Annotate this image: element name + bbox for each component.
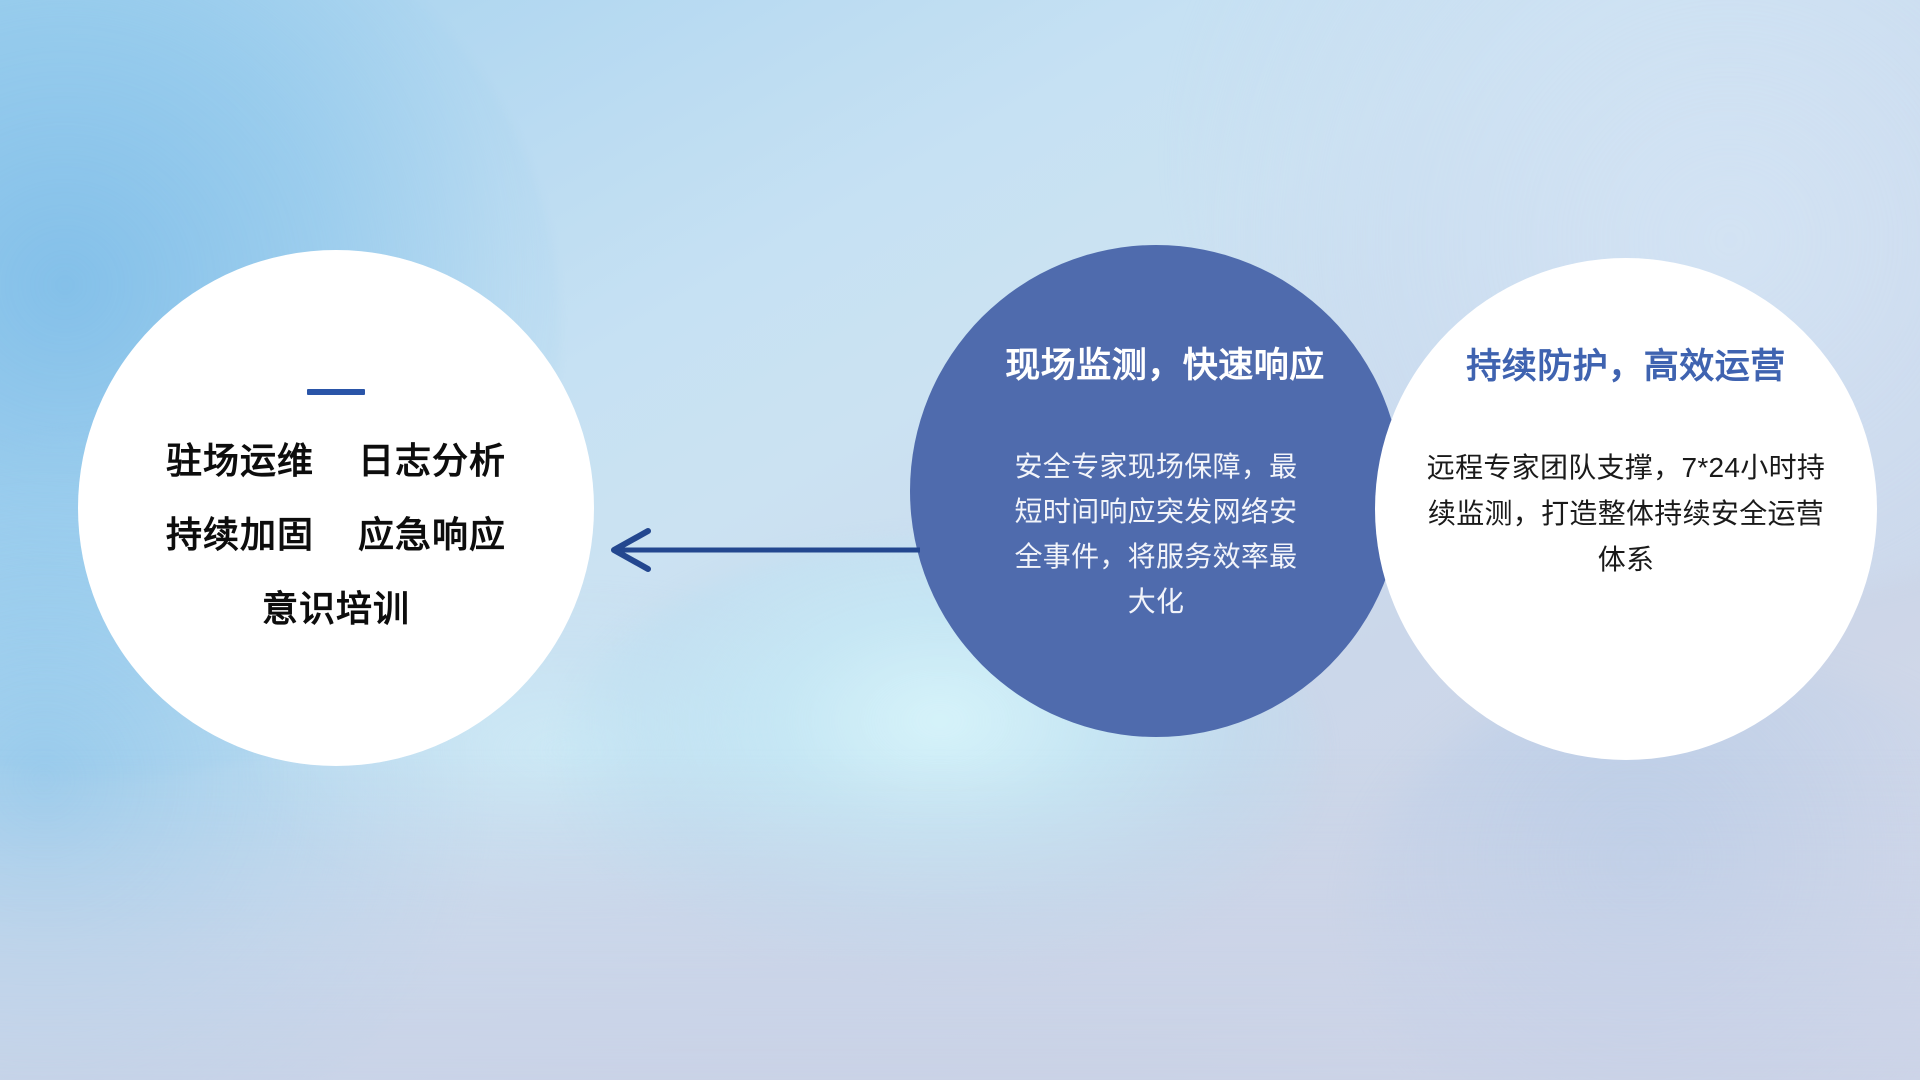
- middle-circle-heading: 现场监测，快速响应: [1005, 337, 1325, 388]
- background-glow-bottom-band: [0, 760, 1920, 1080]
- left-keyword-line-3: 意识培训: [262, 591, 410, 627]
- left-circle-content: 驻场运维 日志分析 持续加固 应急响应 意识培训: [78, 250, 594, 766]
- middle-circle-body: 安全专家现场保障，最短时间响应突发网络安全事件，将服务效率最大化: [1006, 444, 1306, 624]
- divider-dash: [307, 389, 365, 395]
- right-circle-content: 持续防护，高效运营 远程专家团队支撑，7*24小时持续监测，打造整体持续安全运营…: [1375, 258, 1877, 760]
- left-keyword-line-2: 持续加固 应急响应: [166, 517, 506, 553]
- diagram-canvas: 驻场运维 日志分析 持续加固 应急响应 意识培训 现场监测，快速响应 安全专家现…: [0, 0, 1920, 1080]
- right-circle-body: 远程专家团队支撑，7*24小时持续监测，打造整体持续安全运营体系: [1416, 445, 1836, 583]
- left-keyword-line-1: 驻场运维 日志分析: [166, 443, 506, 479]
- middle-circle-content: 现场监测，快速响应 安全专家现场保障，最短时间响应突发网络安全事件，将服务效率最…: [910, 245, 1402, 737]
- connector-arrow-left-icon: [590, 505, 930, 595]
- right-circle-heading: 持续防护，高效运营: [1466, 338, 1786, 389]
